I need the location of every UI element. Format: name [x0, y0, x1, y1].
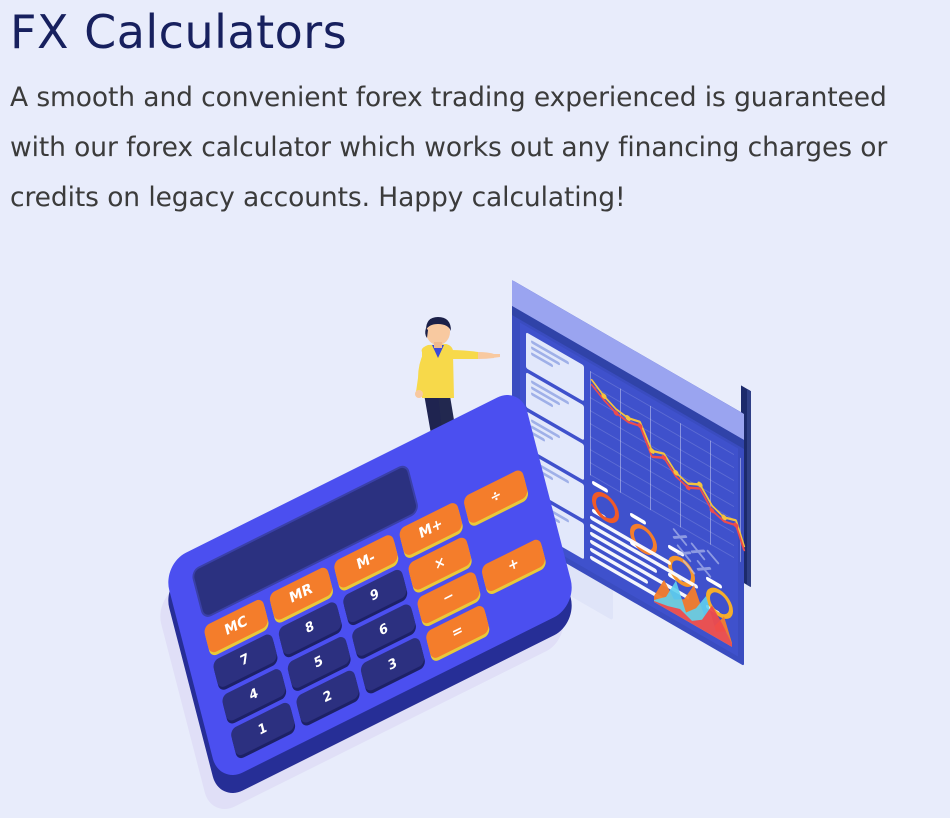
arm-right: [450, 350, 478, 359]
hand-right: [478, 352, 494, 359]
monitor-side-edge-highlight: [747, 389, 751, 587]
intro-text-block: FX Calculators A smooth and convenient f…: [10, 6, 940, 222]
pointing-finger: [492, 354, 500, 358]
hand-left: [415, 390, 423, 398]
neck: [434, 342, 442, 348]
page-root: FX Calculators A smooth and convenient f…: [0, 0, 950, 754]
forex-calculator-illustration: MC MR M- M+ ÷ 7 8 9 × 4 5 6 − + 1 2: [0, 270, 950, 754]
page-title: FX Calculators: [10, 6, 940, 59]
page-description: A smooth and convenient forex trading ex…: [10, 73, 930, 222]
isometric-calculator: MC MR M- M+ ÷ 7 8 9 × 4 5 6 − + 1 2: [150, 460, 610, 750]
